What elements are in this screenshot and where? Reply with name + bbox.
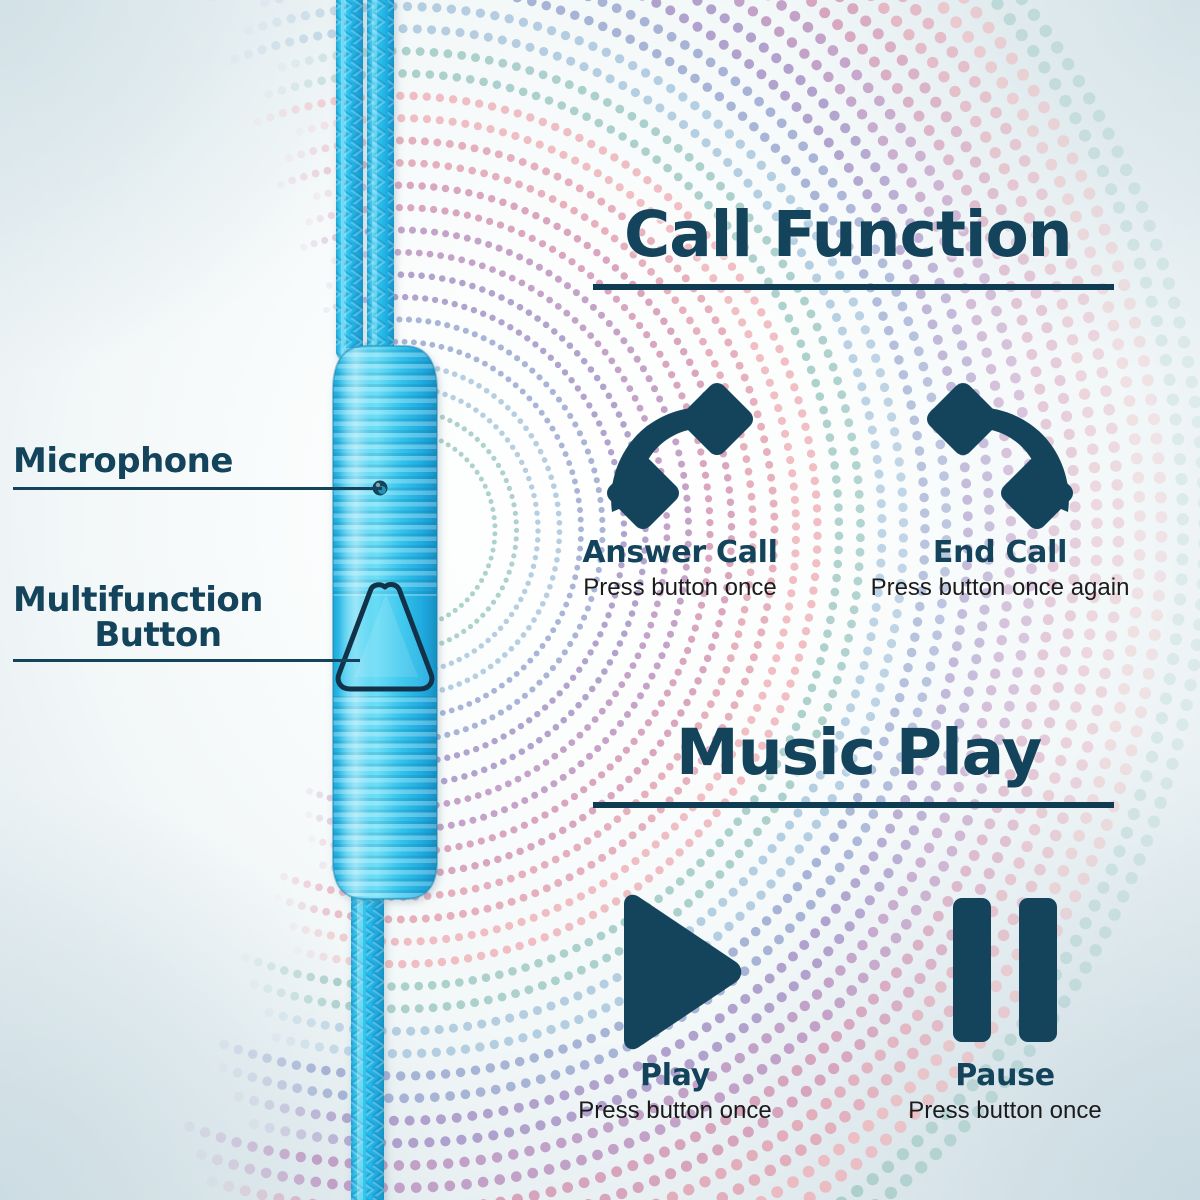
microphone-callout-label: Microphone xyxy=(13,444,233,479)
multifunction-button-callout-label: Multifunction Button xyxy=(13,583,303,654)
end-call-title: End Call xyxy=(845,535,1155,570)
music-play-title: Music Play xyxy=(676,716,1041,789)
multifunction-label-line1: Multifunction xyxy=(13,580,263,620)
pause-icon-slot xyxy=(860,890,1150,1058)
call-function-underline xyxy=(593,284,1114,290)
pause-bars-icon xyxy=(945,890,1065,1050)
play-description: Press button once xyxy=(540,1097,810,1125)
play-title: Play xyxy=(540,1058,810,1093)
play-triangle-icon xyxy=(600,890,750,1050)
play-icon-slot xyxy=(540,890,810,1058)
answer-call-title: Answer Call xyxy=(545,535,815,570)
multifunction-label-line2: Button xyxy=(13,618,303,653)
phone-handset-end-icon xyxy=(916,370,1084,530)
microphone-leader-line xyxy=(13,487,382,490)
feature-end-call: End Call Press button once again xyxy=(845,370,1155,602)
phone-handset-answer-icon xyxy=(596,370,764,530)
end-call-description: Press button once again xyxy=(845,574,1155,602)
multifunction-button-leader-line xyxy=(13,659,360,662)
infographic-canvas: Microphone Multifunction Button Call Fun… xyxy=(0,0,1200,1200)
pause-description: Press button once xyxy=(860,1097,1150,1125)
earphone-cable-assembly xyxy=(300,0,500,1200)
feature-play: Play Press button once xyxy=(540,890,810,1125)
answer-call-description: Press button once xyxy=(545,574,815,602)
feature-answer-call: Answer Call Press button once xyxy=(545,370,815,602)
upper-twin-cable xyxy=(336,0,394,362)
end-call-icon-slot xyxy=(845,370,1155,535)
lower-cable xyxy=(351,876,384,1200)
feature-pause: Pause Press button once xyxy=(860,890,1150,1125)
music-play-underline xyxy=(593,802,1114,808)
pause-title: Pause xyxy=(860,1058,1150,1093)
call-function-title: Call Function xyxy=(624,198,1072,271)
answer-call-icon-slot xyxy=(545,370,815,535)
